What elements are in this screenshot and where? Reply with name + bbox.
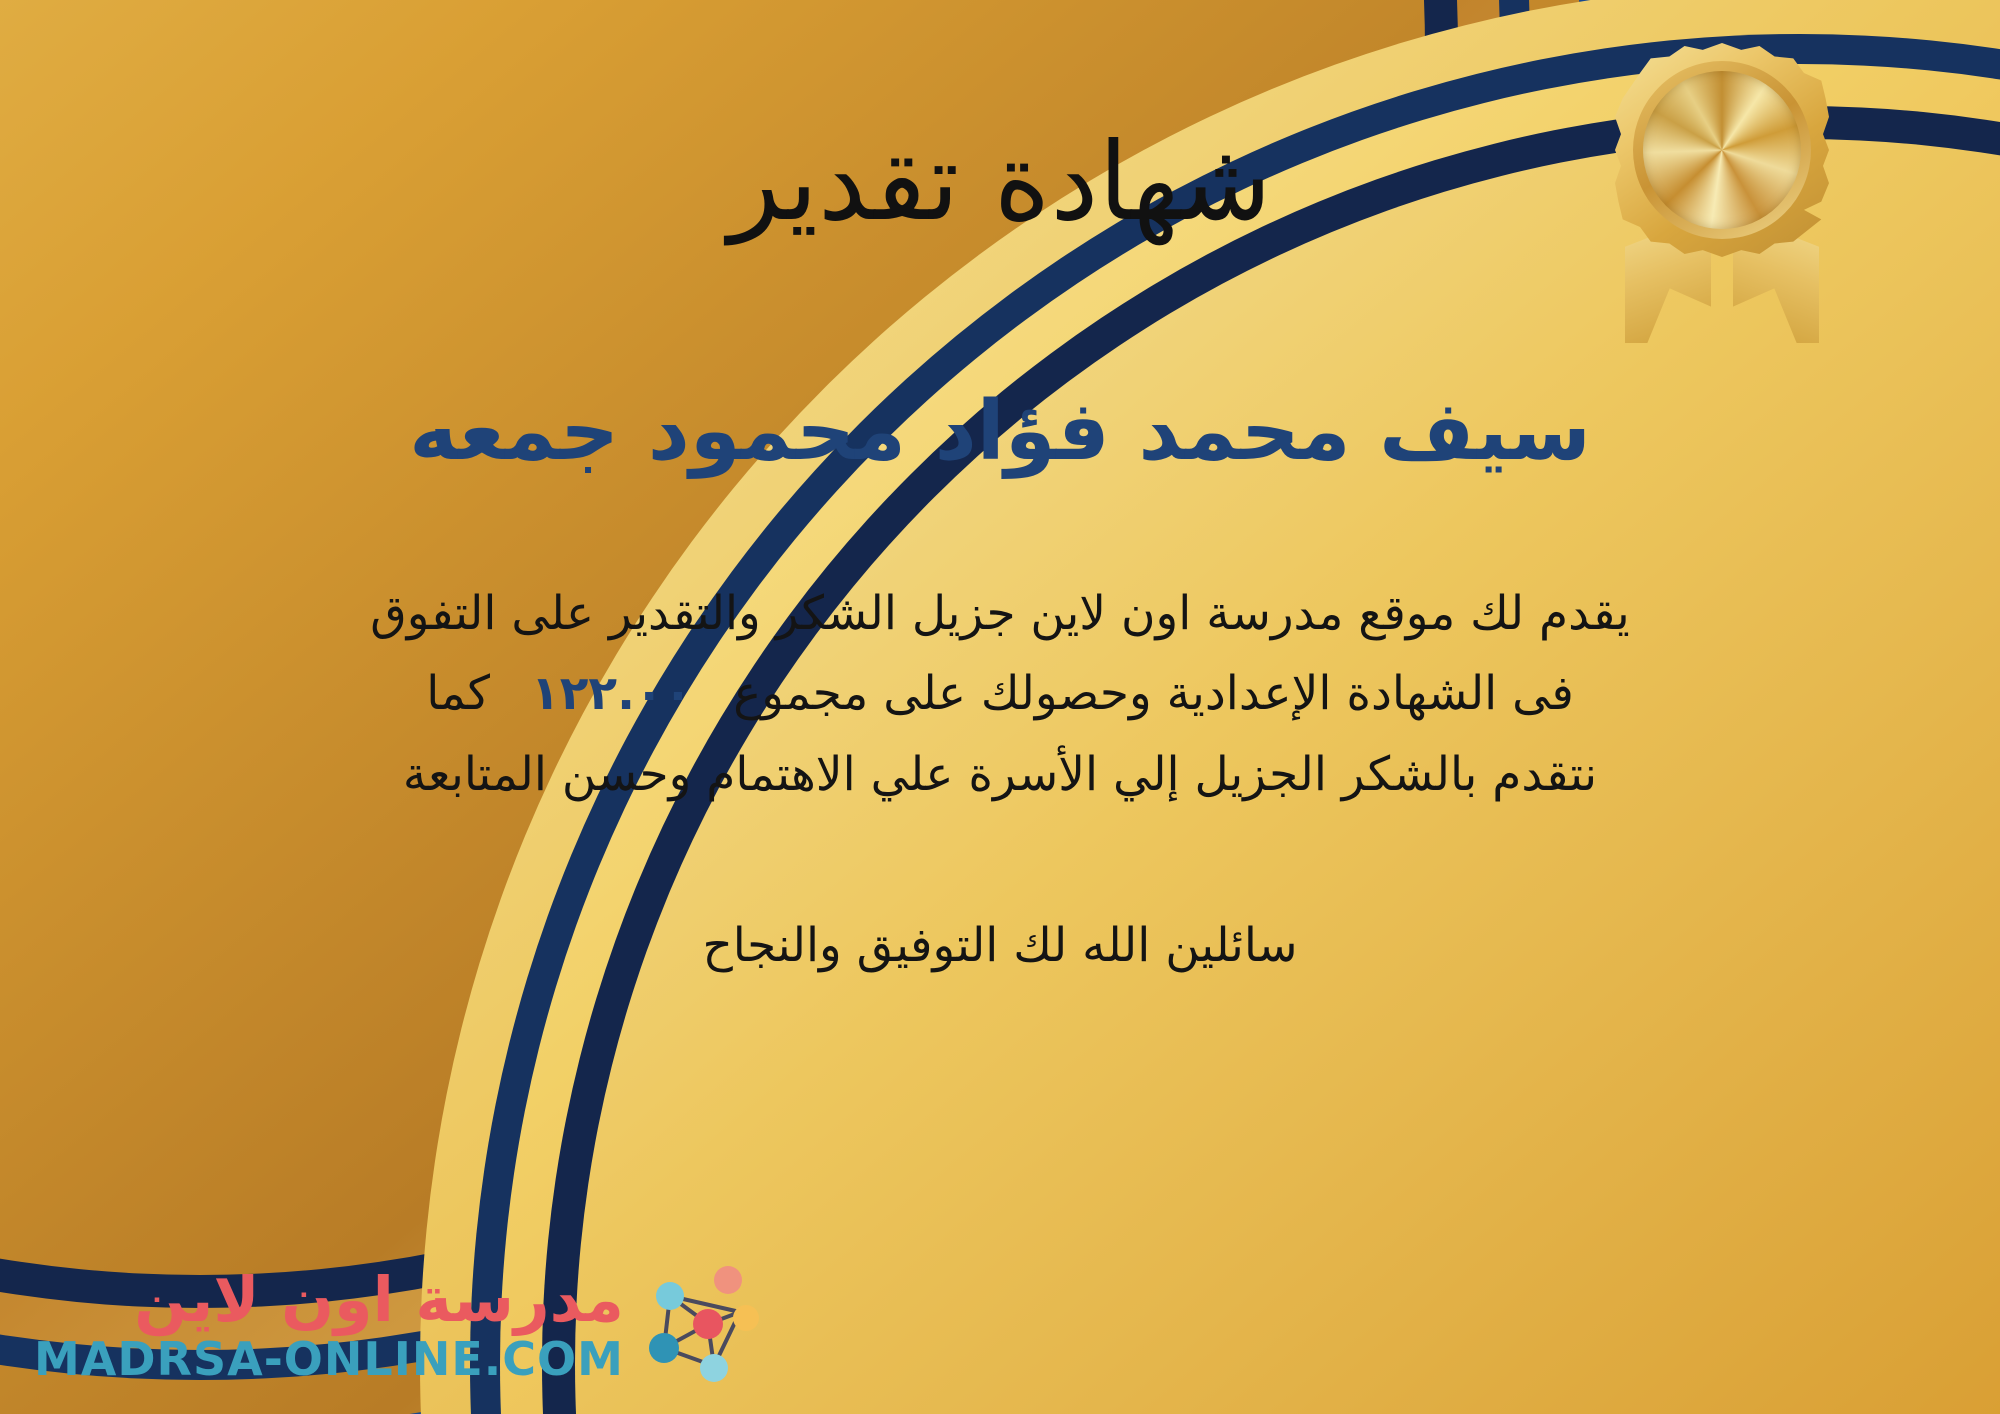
logo-website-url: MADRSA-ONLINE.COM [34, 1335, 624, 1385]
network-nodes-icon [640, 1266, 760, 1388]
logo-arabic-name: مدرسة اون لاين [134, 1269, 624, 1331]
certificate-body: يقدم لك موقع مدرسة اون لاين جزيل الشكر و… [220, 574, 1780, 816]
certificate-canvas: شهادة تقدير سيف محمد فؤاد محمود جمعه يقد… [0, 0, 2000, 1414]
recipient-name: سيف محمد فؤاد محمود جمعه [409, 387, 1591, 477]
certificate-content: شهادة تقدير سيف محمد فؤاد محمود جمعه يقد… [0, 0, 2000, 1414]
body-line-2-tail: كما [426, 666, 490, 721]
logo-wordmark: مدرسة اون لاين MADRSA-ONLINE.COM [34, 1269, 624, 1385]
body-line-1: يقدم لك موقع مدرسة اون لاين جزيل الشكر و… [220, 574, 1780, 655]
body-line-3: نتقدم بالشكر الجزيل إلي الأسرة علي الاهت… [220, 735, 1780, 816]
closing-wish: سائلين الله لك التوفيق والنجاح [702, 908, 1297, 983]
body-line-2-lead: فى الشهادة الإعدادية وحصولك على مجموع [733, 666, 1574, 721]
body-line-2: فى الشهادة الإعدادية وحصولك على مجموع ١٢… [220, 654, 1780, 735]
certificate-title: شهادة تقدير [728, 126, 1271, 239]
site-logo[interactable]: مدرسة اون لاين MADRSA-ONLINE.COM [34, 1266, 760, 1388]
grade-total-value: ١٢٢.٠٠ [505, 666, 718, 721]
